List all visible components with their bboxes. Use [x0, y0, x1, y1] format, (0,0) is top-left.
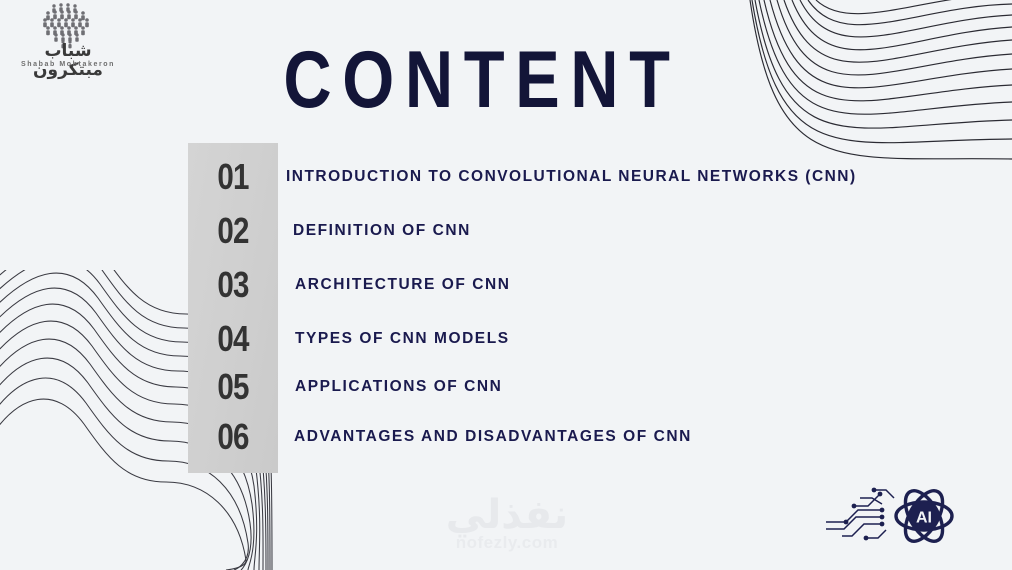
- list-item[interactable]: 02 DEFINITION OF CNN: [188, 207, 1012, 255]
- ai-badge-label: AI: [916, 510, 932, 527]
- list-item[interactable]: 06 ADVANTAGES AND DISADVANTAGES OF CNN: [188, 413, 1012, 461]
- list-item[interactable]: 03 ARCHITECTURE OF CNN: [188, 261, 1012, 309]
- list-item-label: APPLICATIONS OF CNN: [278, 378, 1012, 396]
- list-item-label: DEFINITION OF CNN: [278, 222, 1012, 240]
- list-item-number: 04: [196, 318, 270, 360]
- list-item-label: INTRODUCTION TO CONVOLUTIONAL NEURAL NET…: [278, 168, 1012, 186]
- watermark-url: nofezly.com: [407, 533, 607, 553]
- list-item[interactable]: 05 APPLICATIONS OF CNN: [188, 363, 1012, 411]
- list-item-number: 06: [196, 416, 270, 458]
- list-item-number: 05: [196, 366, 270, 408]
- list-item-label: TYPES OF CNN MODELS: [278, 330, 1012, 348]
- list-item-number: 01: [196, 156, 270, 198]
- list-item-number: 02: [196, 210, 270, 252]
- list-item[interactable]: 01 INTRODUCTION TO CONVOLUTIONAL NEURAL …: [188, 153, 1012, 201]
- page-title: CONTENT: [58, 40, 906, 121]
- toc-list: 01 INTRODUCTION TO CONVOLUTIONAL NEURAL …: [188, 143, 1012, 473]
- list-item-label: ADVANTAGES AND DISADVANTAGES OF CNN: [278, 428, 1012, 446]
- list-item[interactable]: 04 TYPES OF CNN MODELS: [188, 315, 1012, 363]
- list-item-number: 03: [196, 264, 270, 306]
- list-item-label: ARCHITECTURE OF CNN: [278, 276, 1012, 294]
- ai-circuit-atom-icon: AI: [824, 476, 974, 556]
- watermark-arabic: نفذلي: [407, 495, 607, 535]
- watermark: نفذلي nofezly.com: [407, 495, 607, 553]
